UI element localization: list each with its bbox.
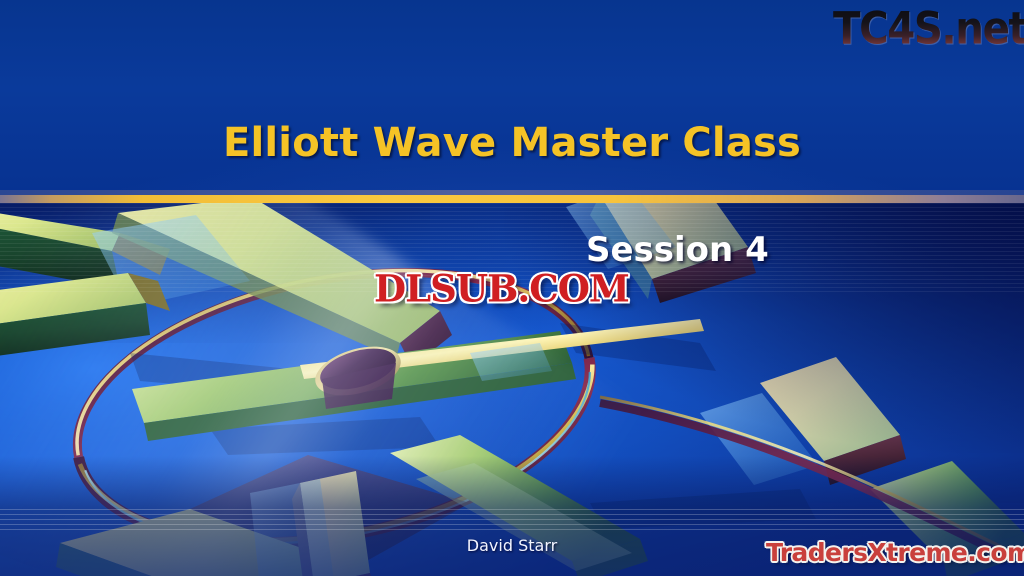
gold-divider-rule: [0, 195, 1024, 203]
abstract-3d-ring-artwork: [0, 203, 1024, 576]
artwork-vector-layer: [0, 203, 1024, 576]
watermark-tc4s: TC4S.net: [833, 2, 1024, 54]
session-label: Session 4: [586, 230, 769, 270]
page-title: Elliott Wave Master Class: [0, 120, 1024, 166]
presentation-slide: Elliott Wave Master Class Session 4 Davi…: [0, 0, 1024, 576]
watermark-dlsub: DLSUB.COM: [374, 266, 629, 311]
watermark-tradersxtreme: TradersXtreme.com: [766, 538, 1024, 567]
